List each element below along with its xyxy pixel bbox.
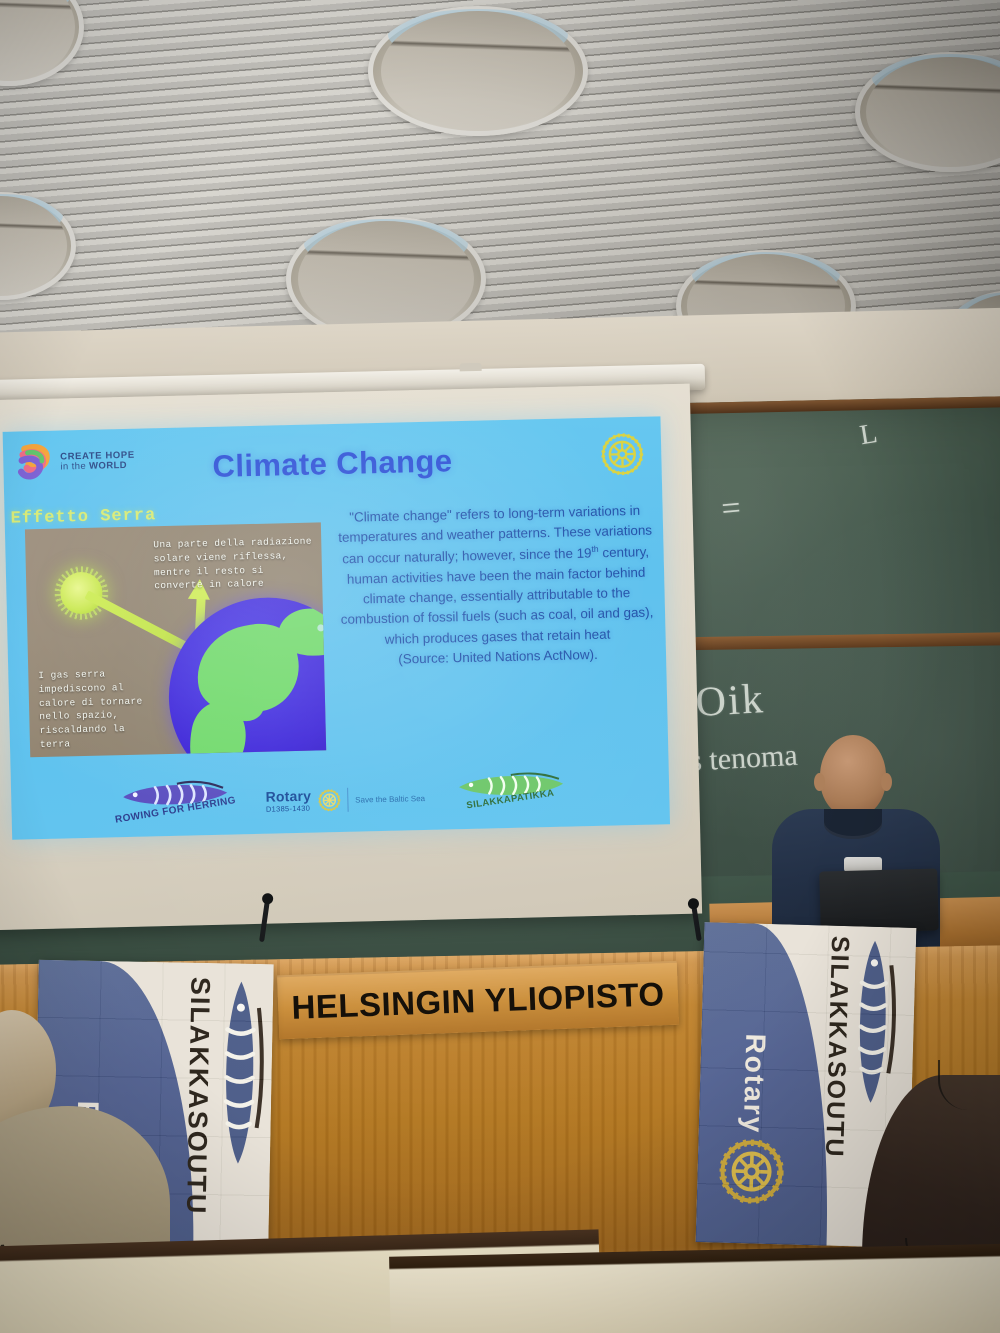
presenter-ear <box>814 773 825 791</box>
earth-globe <box>167 595 327 757</box>
lectern-monitor <box>819 868 939 933</box>
light-glow <box>0 0 71 18</box>
rotary-wordmark: Rotary D1385-1430 <box>265 789 311 814</box>
chalk-writing-word1: Oik <box>694 675 766 727</box>
projection-screen: CREATE HOPE in the WORLD Climate Change <box>0 384 702 931</box>
slide-body-source: (Source: United Nations ActNow). <box>338 644 658 672</box>
university-sign-text: HELSINGIN YLIOPISTO <box>291 975 665 1027</box>
rotary-footer-logo: Rotary D1385-1430 Save the <box>265 786 425 814</box>
light-reflection-text: URG <box>394 20 561 46</box>
diagram-caption-top: Una parte della radiazione solare viene … <box>153 535 314 594</box>
student-desk-front-right <box>389 1243 1000 1333</box>
silakkapatikka-logo: SILAKKAPATIKKA <box>451 774 570 819</box>
slide-body-text: "Climate change" refers to long-term var… <box>334 501 658 672</box>
presenter-collar <box>824 809 882 839</box>
lecture-hall-photo: URG = L Oik is tenoma <box>0 0 1000 1333</box>
roller-bracket <box>460 363 482 371</box>
rowing-for-herring-logo: ROWING FOR HERRING <box>111 779 240 828</box>
continent-landmass <box>228 689 264 722</box>
rotary-wheel-icon <box>318 789 341 812</box>
light-glow <box>872 54 1000 102</box>
slide-header: CREATE HOPE in the WORLD Climate Change <box>3 416 663 509</box>
greenhouse-effect-diagram: Una parte della radiazione solare viene … <box>25 522 326 757</box>
sun-icon <box>44 555 120 631</box>
light-glow <box>388 9 568 61</box>
rotary-district: D1385-1430 <box>266 805 312 814</box>
rotary-name: Rotary <box>265 789 311 804</box>
baltic-sea-tagline: Save the Baltic Sea <box>355 793 425 804</box>
presenter-head <box>820 735 886 817</box>
presenter-ear <box>881 773 892 791</box>
presentation-slide: CREATE HOPE in the WORLD Climate Change <box>3 416 670 839</box>
diagram-heading: Effetto Serra <box>10 506 156 528</box>
light-glow <box>304 219 468 269</box>
chalk-writing-equals: = <box>720 489 746 529</box>
ocean-speck <box>318 624 325 631</box>
recessed-light-2: URG <box>368 6 588 136</box>
slide-footer-logos: ROWING FOR HERRING Rotary D1385-1430 <box>11 766 670 833</box>
rotary-wheel-icon <box>601 433 644 476</box>
diagram-caption-bottom: I gas serra impediscono al calore di tor… <box>38 666 160 751</box>
logo-divider <box>347 788 349 812</box>
light-glow <box>692 252 840 297</box>
